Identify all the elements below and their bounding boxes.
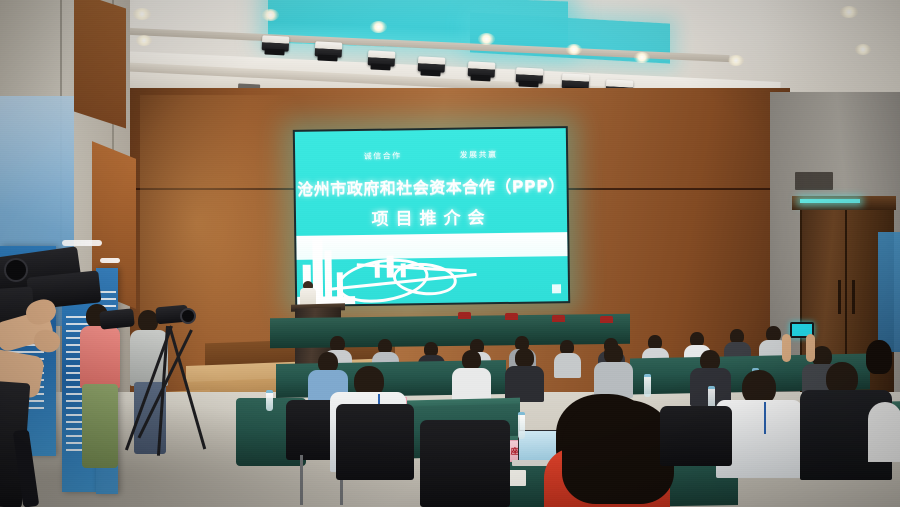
screen-tagline-left: 诚信合作 <box>364 150 402 162</box>
attendee-torso <box>868 402 900 462</box>
downlight-icon <box>136 35 152 46</box>
downlight-icon <box>840 6 858 18</box>
attendee-head <box>515 348 534 368</box>
downlight-icon <box>478 33 495 45</box>
conference-chair[interactable] <box>660 406 732 466</box>
stage-spotlight <box>262 35 290 51</box>
head-table-item <box>600 316 613 323</box>
right-blue-banner <box>878 232 900 352</box>
head-table-item <box>552 315 565 322</box>
banner-top-rail <box>62 240 102 246</box>
water-bottle <box>266 390 273 411</box>
attendee-head <box>604 344 623 364</box>
stage-spotlight <box>516 67 544 83</box>
screen-tagline-row: 诚信合作 发展共赢 <box>295 148 566 163</box>
attendee-head <box>462 350 481 370</box>
downlight-icon <box>728 55 744 66</box>
camera-lens-icon <box>180 308 196 324</box>
screen-tagline-right: 发展共赢 <box>460 149 498 161</box>
downlight-icon <box>370 21 387 33</box>
screen-headline: 沧州市政府和社会资本合作（PPP） <box>295 172 566 200</box>
screen-surface: 诚信合作 发展共赢 沧州市政府和社会资本合作（PPP） 项目推介会 <box>295 128 568 305</box>
banner-top-rail <box>100 258 120 263</box>
attendee-torso <box>554 353 581 378</box>
left-wood-trim <box>74 0 126 128</box>
attendee-torso <box>505 366 544 402</box>
skyline-tower <box>324 250 332 298</box>
stage-spotlight <box>468 61 496 77</box>
stage-spotlight <box>315 41 343 57</box>
screen-subheadline: 项目推介会 <box>296 202 567 231</box>
attendee-arm <box>782 334 791 362</box>
attendee-head <box>866 340 892 374</box>
door-handle[interactable] <box>852 280 855 314</box>
conference-chair[interactable] <box>420 420 510 507</box>
led-presentation-screen: 诚信合作 发展共赢 沧州市政府和社会资本合作（PPP） 项目推介会 <box>293 126 570 307</box>
stage-spotlight <box>418 56 446 72</box>
door-handle[interactable] <box>838 280 841 314</box>
wall-panel-plaque <box>795 172 833 190</box>
stage-spotlight <box>368 50 396 66</box>
downlight-icon <box>262 9 279 21</box>
water-bottle <box>644 374 651 397</box>
conference-hall-photo: 诚信合作 发展共赢 沧州市政府和社会资本合作（PPP） 项目推介会 <box>0 0 900 507</box>
conference-chair[interactable] <box>336 404 414 480</box>
head-table-item <box>458 312 471 319</box>
downlight-icon <box>133 8 151 20</box>
videographer-torso <box>80 326 120 388</box>
videographer-legs <box>82 384 118 468</box>
attendee-hair-front <box>562 400 674 504</box>
camera-lens-icon <box>4 258 28 282</box>
chair-leg <box>300 455 303 505</box>
downlight-icon <box>634 52 650 63</box>
water-bottle <box>518 412 525 439</box>
downlight-icon <box>855 44 871 55</box>
head-table <box>270 314 630 348</box>
downlight-icon <box>566 44 582 55</box>
lanyard <box>764 402 766 434</box>
attendee-torso <box>594 362 633 398</box>
screen-skyline-graphic <box>296 228 568 305</box>
video-camera[interactable] <box>99 308 135 329</box>
screen-corner-logo-icon <box>552 284 561 293</box>
attendee-arm <box>806 334 815 362</box>
door-light-strip-icon <box>800 199 860 203</box>
head-table-item <box>505 313 518 320</box>
